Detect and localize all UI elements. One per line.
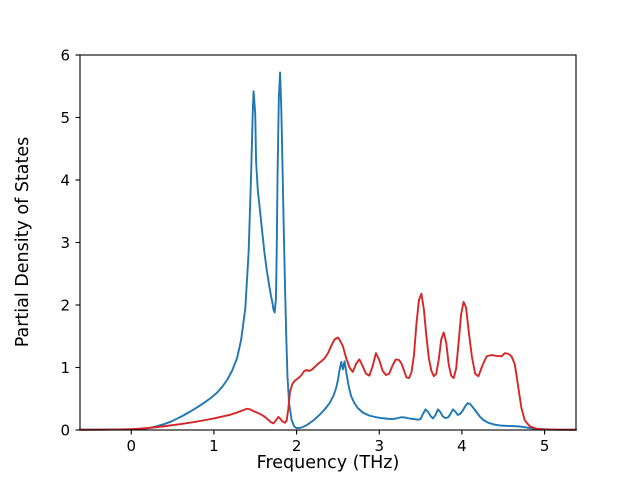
chart-svg: 012345 0123456 Frequency (THz) Partial D… [0, 0, 640, 480]
x-tick-label: 1 [209, 437, 219, 455]
plot-background [80, 55, 576, 430]
y-tick-label: 1 [60, 359, 70, 377]
x-axis-ticks: 012345 [126, 430, 549, 455]
y-axis-label: Partial Density of States [13, 137, 33, 348]
x-tick-label: 4 [457, 437, 467, 455]
y-tick-label: 6 [60, 46, 70, 64]
y-tick-label: 5 [60, 109, 70, 127]
figure-canvas: 012345 0123456 Frequency (THz) Partial D… [0, 0, 640, 480]
y-tick-label: 2 [60, 296, 70, 314]
x-axis-label: Frequency (THz) [257, 453, 400, 473]
y-axis-ticks: 0123456 [60, 46, 80, 439]
y-tick-label: 3 [60, 234, 70, 252]
y-tick-label: 4 [60, 171, 70, 189]
y-tick-label: 0 [60, 421, 70, 439]
x-tick-label: 5 [540, 437, 550, 455]
x-tick-label: 0 [126, 437, 136, 455]
